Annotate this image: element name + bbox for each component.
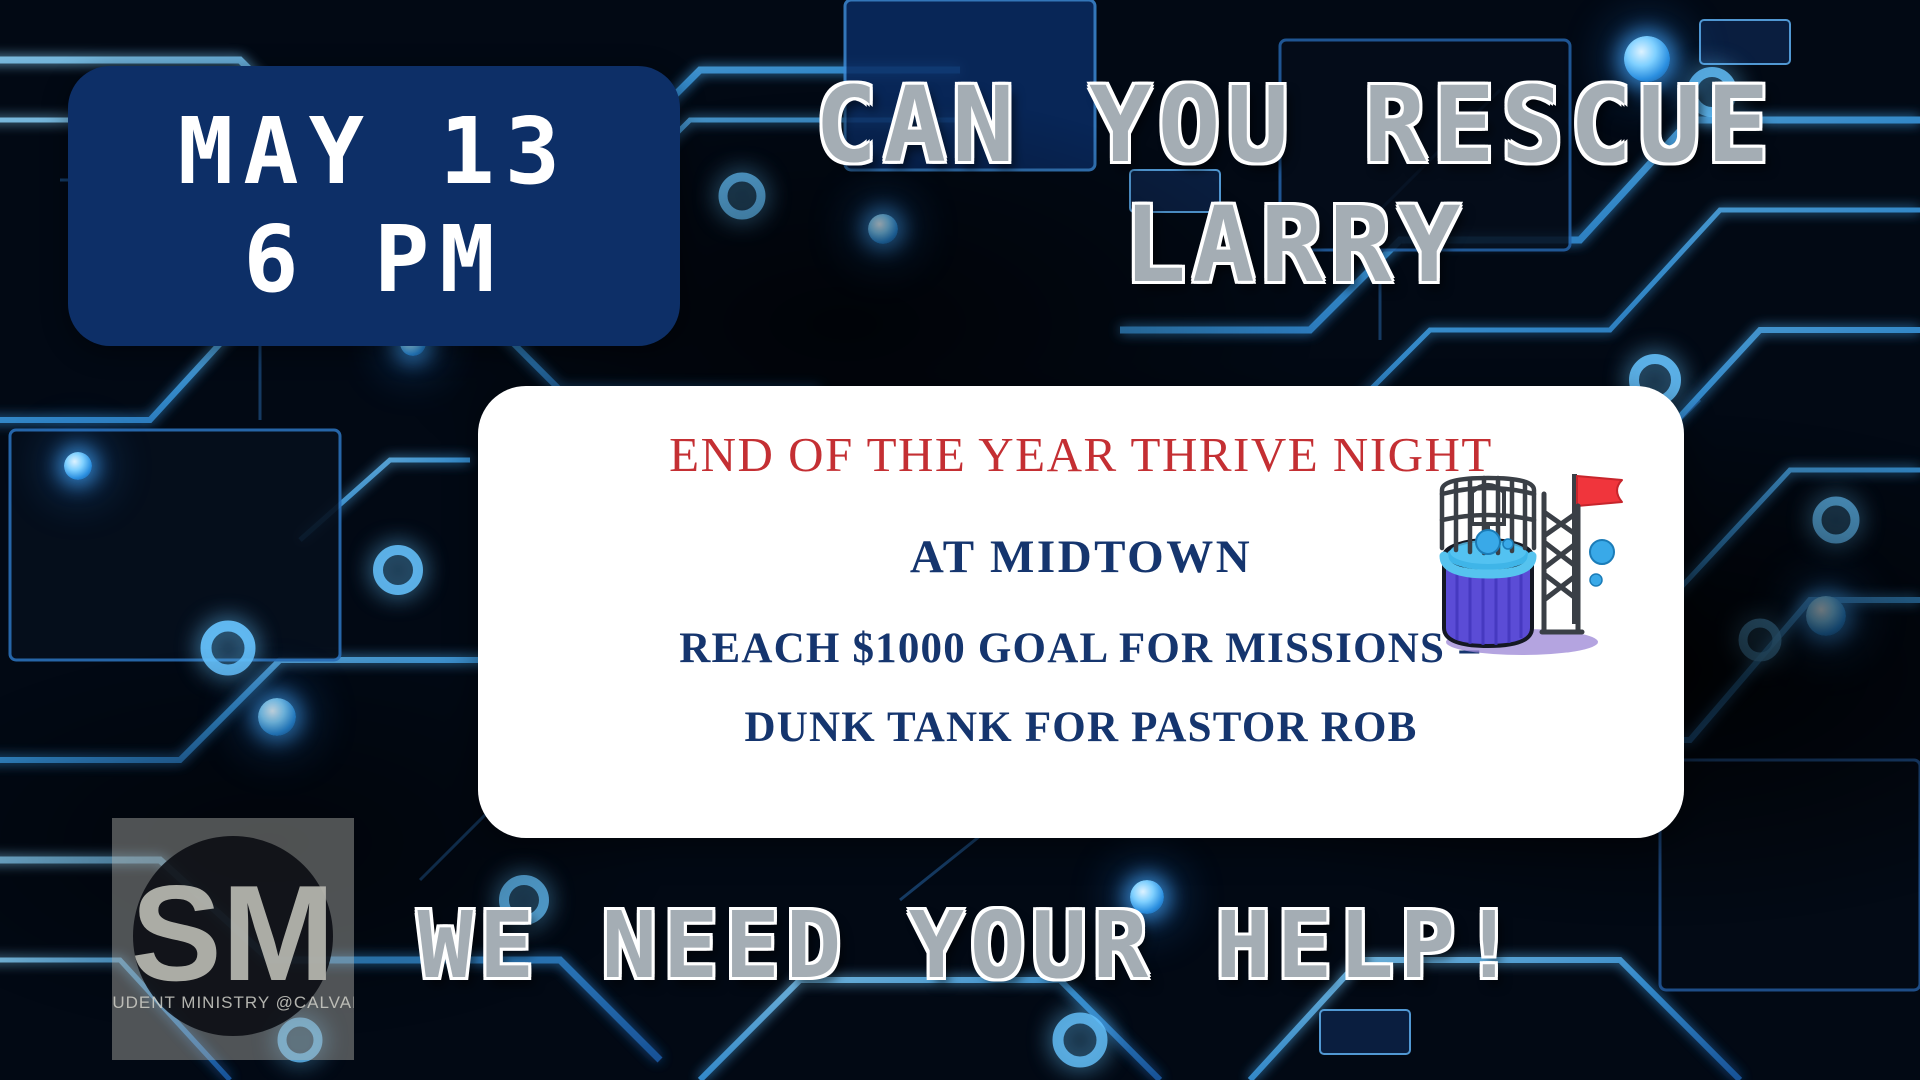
event-date-badge: MAY 13 6 PM [68,66,680,346]
poster-headline: CAN YOU RESCUE LARRY [700,72,1890,298]
event-info-card: END OF THE YEAR THRIVE NIGHT AT MIDTOWN … [478,386,1684,838]
headline-line-2: LARRY [700,192,1890,298]
footer-callout-text: WE NEED YOUR HELP! [380,900,1560,992]
dunk-tank-icon [1426,464,1626,664]
sm-logo-mark: SM STUDENT MINISTRY @CALVARY [112,818,354,1060]
info-card-reward-line: DUNK TANK FOR PASTOR ROB [478,703,1684,752]
student-ministry-logo: SM STUDENT MINISTRY @CALVARY [112,818,354,1060]
sm-logo-monogram: SM [131,857,335,1009]
dunk-tank-illustration [1426,464,1626,664]
sm-logo-tagline: STUDENT MINISTRY @CALVARY [112,993,354,1012]
event-poster: MAY 13 6 PM CAN YOU RESCUE LARRY END OF … [0,0,1920,1080]
event-time-text: 6 PM [243,211,505,309]
poster-footer-callout: WE NEED YOUR HELP! [380,900,1560,992]
event-date-text: MAY 13 [178,103,570,201]
headline-line-1: CAN YOU RESCUE [700,72,1890,178]
